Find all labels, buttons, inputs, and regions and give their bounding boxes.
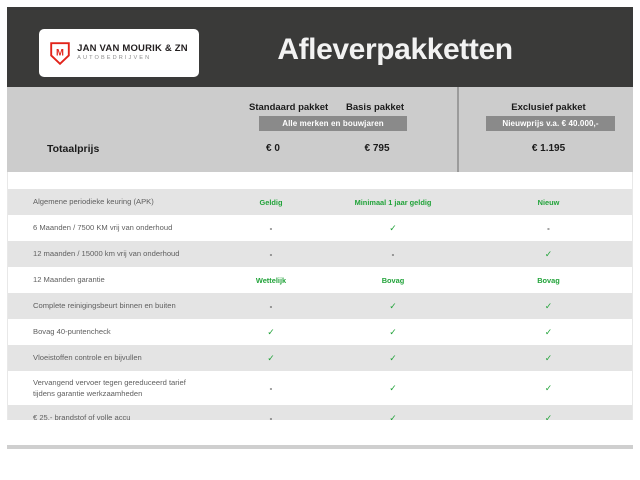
feature-label-line: Algemene periodieke keuring (APK) [33,196,233,207]
feature-label: Vloeistoffen controle en bijvullen [33,345,233,371]
feature-label-line: Vloeistoffen controle en bijvullen [33,352,233,363]
table-row: 6 Maanden / 7500 KM vrij van onderhoud-✓… [7,215,633,241]
table-bottom-space [7,420,633,445]
feature-value-basis: Minimaal 1 jaar geldig [340,189,446,215]
total-price-label: Totaalprijs [47,143,99,155]
table-left-edge [7,172,8,449]
feature-value-standaard: Geldig [236,189,306,215]
table-top-spacer [7,172,633,189]
feature-value-exclusief: ✓ [457,241,640,267]
feature-value-exclusief: Nieuw [457,189,640,215]
feature-value-basis: ✓ [340,215,446,241]
feature-label-line: Vervangend vervoer tegen gereduceerd tar… [33,377,233,388]
column-title-standaard: Standaard pakket [249,102,328,113]
feature-label-line: 6 Maanden / 7500 KM vrij van onderhoud [33,222,233,233]
feature-label-line: 12 maanden / 15000 km vrij van onderhoud [33,248,233,259]
feature-value-standaard: - [236,371,306,405]
feature-label: 12 maanden / 15000 km vrij van onderhoud [33,241,233,267]
feature-value-basis: ✓ [340,319,446,345]
page-header: M JAN VAN MOURIK & ZN AUTOBEDRIJVEN Afle… [7,7,633,87]
feature-value-standaard: - [236,241,306,267]
table-bottom-strip [7,445,633,449]
feature-value-basis: ✓ [340,371,446,405]
table-row: Complete reinigingsbeurt binnen en buite… [7,293,633,319]
feature-label: Vervangend vervoer tegen gereduceerd tar… [33,371,233,405]
feature-label: Bovag 40-puntencheck [33,319,233,345]
feature-value-basis: ✓ [340,293,446,319]
feature-value-exclusief: ✓ [457,293,640,319]
feature-label-line: tijdens garantie werkzaamheden [33,388,233,399]
page-title: Afleverpakketten [7,33,633,67]
table-row: 12 Maanden garantieWettelijkBovagBovag [7,267,633,293]
feature-comparison-table: Algemene periodieke keuring (APK)GeldigM… [7,172,633,439]
total-price-standaard: € 0 [243,143,303,154]
feature-value-basis: - [340,241,446,267]
total-price-basis: € 795 [347,143,407,154]
feature-label-line: Bovag 40-puntencheck [33,326,233,337]
table-right-edge [632,172,633,449]
feature-value-standaard: ✓ [236,345,306,371]
feature-value-exclusief: ✓ [457,371,640,405]
feature-label: 12 Maanden garantie [33,267,233,293]
table-row: Bovag 40-puntencheck✓✓✓ [7,319,633,345]
table-row: Algemene periodieke keuring (APK)GeldigM… [7,189,633,215]
column-title-exclusief: Exclusief pakket [457,102,640,113]
feature-value-standaard: - [236,293,306,319]
table-row: 12 maanden / 15000 km vrij van onderhoud… [7,241,633,267]
badge-alle-merken: Alle merken en bouwjaren [259,116,407,131]
feature-value-exclusief: Bovag [457,267,640,293]
feature-value-exclusief: ✓ [457,319,640,345]
total-price-row: Totaalprijs € 0 € 795 € 1.195 [7,143,633,165]
badge-nieuwprijs: Nieuwprijs v.a. € 40.000,- [486,116,615,131]
feature-value-exclusief: ✓ [457,345,640,371]
afleverpakketten-page: M JAN VAN MOURIK & ZN AUTOBEDRIJVEN Afle… [0,0,640,480]
table-row: Vloeistoffen controle en bijvullen✓✓✓ [7,345,633,371]
feature-label: Complete reinigingsbeurt binnen en buite… [33,293,233,319]
table-row: Vervangend vervoer tegen gereduceerd tar… [7,371,633,405]
feature-label: 6 Maanden / 7500 KM vrij van onderhoud [33,215,233,241]
feature-value-standaard: Wettelijk [236,267,306,293]
feature-value-standaard: - [236,215,306,241]
package-header-band: Standaard pakket Basis pakket Exclusief … [7,87,633,172]
feature-label-line: Complete reinigingsbeurt binnen en buite… [33,300,233,311]
total-price-exclusief: € 1.195 [457,143,640,154]
column-title-basis: Basis pakket [346,102,404,113]
feature-value-basis: ✓ [340,345,446,371]
feature-label-line: 12 Maanden garantie [33,274,233,285]
feature-value-standaard: ✓ [236,319,306,345]
feature-label: Algemene periodieke keuring (APK) [33,189,233,215]
feature-value-exclusief: - [457,215,640,241]
feature-value-basis: Bovag [340,267,446,293]
